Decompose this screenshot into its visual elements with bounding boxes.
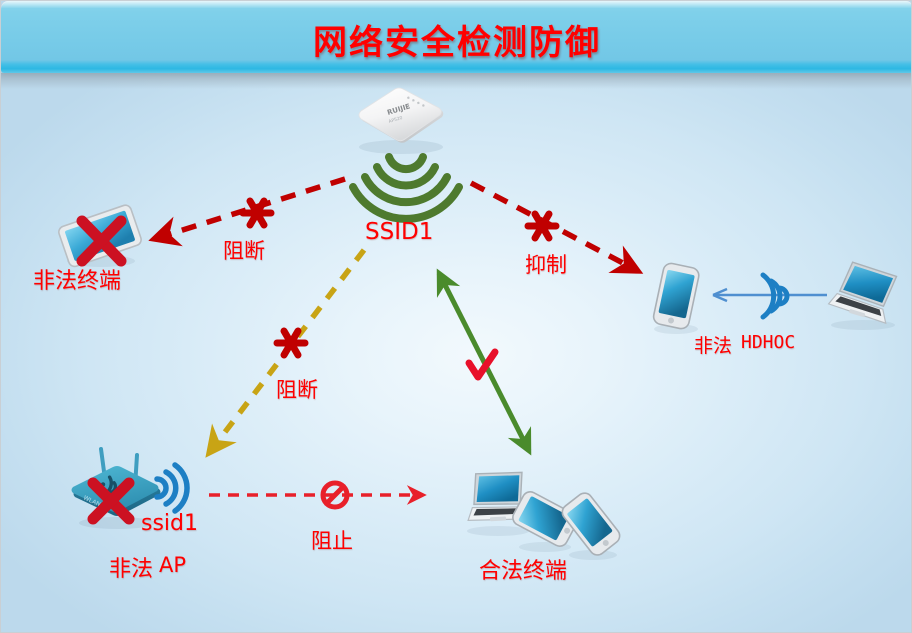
no-entry-icon — [323, 483, 347, 507]
page-title: 网络安全检测防御 — [1, 15, 912, 64]
link-block-terminal — [154, 179, 345, 239]
ssid-label-ap: SSID1 — [365, 219, 433, 245]
rogue-ap-caption-en: AP — [159, 553, 186, 577]
ssid-label-rogue-ap: ssid1 — [141, 511, 198, 536]
title-bar-gloss — [1, 1, 912, 8]
link-label-suppress-adhoc: 抑制 — [525, 249, 567, 279]
link-label-block-ap: 阻断 — [276, 374, 318, 404]
rogue-adhoc-laptop[interactable] — [819, 259, 903, 335]
legit-terminal-phone-2[interactable] — [557, 489, 629, 565]
asterisk-icon — [243, 201, 271, 225]
rogue-adhoc-caption-en: HDHOC — [741, 332, 795, 353]
check-icon — [469, 352, 495, 377]
legit-terminals-caption: 合法终端 — [479, 553, 567, 585]
smartphone-icon — [645, 259, 707, 339]
wifi-signal-green-icon — [345, 143, 467, 209]
asterisk-icon — [528, 214, 556, 238]
smartphone-icon — [557, 489, 629, 565]
slide-canvas: 网络安全检测防御 — [0, 0, 912, 633]
rogue-adhoc-phone[interactable] — [645, 259, 707, 339]
rogue-terminal-caption: 非法终端 — [33, 263, 121, 295]
rogue-adhoc-caption-cn: 非法 — [694, 331, 732, 358]
wifi-signal-blue-icon — [141, 457, 197, 517]
asterisk-icon — [277, 331, 305, 355]
link-label-block-terminal: 阻断 — [223, 235, 265, 265]
rogue-ap-caption-cn: 非法 — [109, 551, 153, 583]
link-allow-legit — [439, 273, 529, 451]
link-block-ap — [209, 250, 364, 453]
link-label-stop: 阻止 — [311, 525, 353, 555]
laptop-icon — [819, 259, 903, 335]
wifi-signal-blue-icon — [749, 269, 801, 323]
